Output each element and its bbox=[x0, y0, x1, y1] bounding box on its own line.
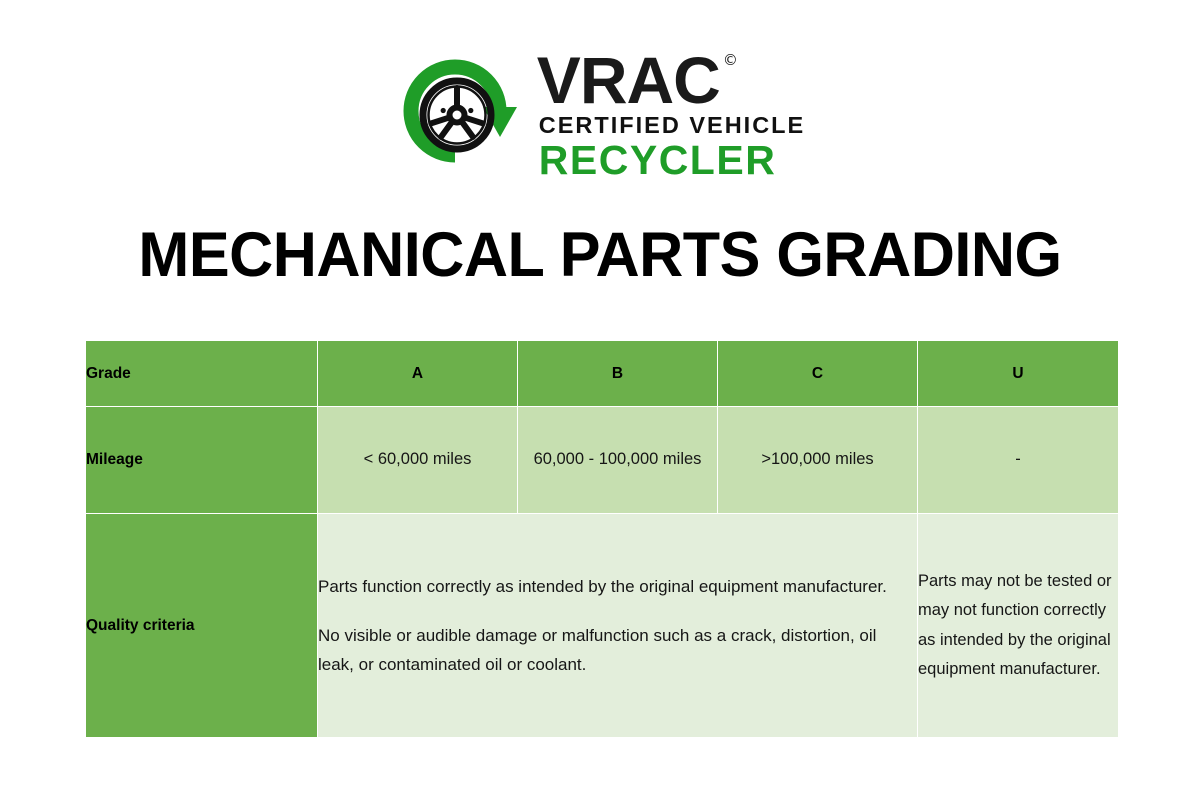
quality-criteria-paragraph-2: No visible or audible damage or malfunct… bbox=[318, 621, 917, 679]
table-row-quality-criteria: Quality criteria Parts function correctl… bbox=[86, 514, 1119, 738]
row-label-mileage: Mileage bbox=[86, 407, 318, 514]
logo-brand-row: VRAC © bbox=[537, 50, 738, 111]
recycle-wheel-icon bbox=[395, 51, 523, 179]
logo-tagline-certified-vehicle: CERTIFIED VEHICLE bbox=[539, 112, 805, 139]
logo-wordmark: VRAC © CERTIFIED VEHICLE RECYCLER bbox=[537, 48, 805, 182]
brand-logo: VRAC © CERTIFIED VEHICLE RECYCLER bbox=[0, 48, 1200, 198]
column-header-b: B bbox=[518, 341, 718, 407]
cell-quality-criteria-abc: Parts function correctly as intended by … bbox=[318, 514, 918, 738]
cell-mileage-u: - bbox=[918, 407, 1119, 514]
logo-brand-v: V bbox=[537, 50, 580, 111]
table-header-row: Grade A B C U bbox=[86, 341, 1119, 407]
row-label-quality-criteria: Quality criteria bbox=[86, 514, 318, 738]
column-header-u: U bbox=[918, 341, 1119, 407]
cell-mileage-b: 60,000 - 100,000 miles bbox=[518, 407, 718, 514]
mechanical-parts-grading-table: Grade A B C U Mileage < 60,000 miles 60,… bbox=[85, 340, 1119, 738]
table-header: Grade A B C U bbox=[86, 341, 1119, 407]
cell-mileage-a: < 60,000 miles bbox=[318, 407, 518, 514]
column-header-c: C bbox=[718, 341, 918, 407]
logo-brand-r: R bbox=[580, 50, 627, 111]
cell-quality-criteria-u: Parts may not be tested or may not funct… bbox=[918, 514, 1119, 738]
table-body: Mileage < 60,000 miles 60,000 - 100,000 … bbox=[86, 407, 1119, 738]
column-header-grade: Grade bbox=[86, 341, 318, 407]
quality-criteria-paragraph-1: Parts function correctly as intended by … bbox=[318, 572, 917, 601]
logo-brand-ac: AC bbox=[626, 50, 719, 111]
table-row-mileage: Mileage < 60,000 miles 60,000 - 100,000 … bbox=[86, 407, 1119, 514]
column-header-a: A bbox=[318, 341, 518, 407]
copyright-icon: © bbox=[723, 54, 738, 68]
cell-mileage-c: >100,000 miles bbox=[718, 407, 918, 514]
logo-tagline-recycler: RECYCLER bbox=[539, 140, 777, 182]
page-title: MECHANICAL PARTS GRADING bbox=[18, 222, 1182, 288]
logo-inner: VRAC © CERTIFIED VEHICLE RECYCLER bbox=[395, 48, 805, 182]
